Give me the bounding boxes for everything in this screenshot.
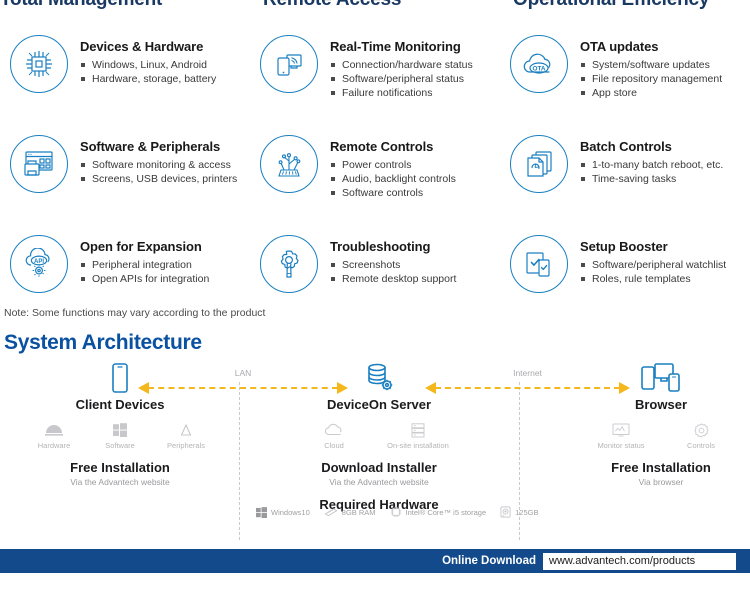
- install-title: Download Installer: [279, 460, 479, 475]
- feature-setup-booster: Setup Booster Software/peripheral watchl…: [500, 230, 750, 330]
- feature-text: Devices & Hardware Windows, Linux, Andro…: [80, 33, 216, 86]
- column-header-3: Operational Efficiency: [500, 0, 750, 11]
- feature-title: Software & Peripherals: [80, 139, 237, 154]
- feature-text: Open for Expansion Peripheral integratio…: [80, 233, 209, 286]
- storage-icon: [500, 506, 511, 518]
- api-gear-cloud-icon: API: [10, 235, 68, 293]
- node-subicons: Hardware Software: [20, 422, 220, 450]
- feature-text: Real-Time Monitoring Connection/hardware…: [330, 33, 473, 100]
- mobile-device-icon: [20, 360, 220, 394]
- feature-ota-updates: OTA OTA updates System/software updates …: [500, 30, 750, 130]
- batch-controls-icon: [510, 135, 568, 193]
- node-title: Client Devices: [20, 397, 220, 412]
- troubleshooting-gear-wrench-icon: [260, 235, 318, 293]
- feature-text: Setup Booster Software/peripheral watchl…: [580, 233, 726, 286]
- ota-cloud-icon: OTA: [510, 35, 568, 93]
- install-subtitle: Via browser: [561, 477, 750, 487]
- feature-bullet: 1-to-many batch reboot, etc.: [580, 158, 723, 172]
- online-download-url[interactable]: www.advantech.com/products: [543, 553, 736, 570]
- ram-icon: [324, 507, 338, 517]
- peripherals-icon: [153, 422, 219, 438]
- feature-bullet: Audio, backlight controls: [330, 172, 456, 186]
- subicon-peripherals: Peripherals: [153, 422, 219, 450]
- feature-bullet: Software monitoring & access: [80, 158, 237, 172]
- required-hardware-row: Windows10 8GB RAM Intel®: [256, 506, 552, 518]
- feature-title: Open for Expansion: [80, 239, 209, 254]
- feature-bullet: Windows, Linux, Android: [80, 58, 216, 72]
- feature-bullet: Peripheral integration: [80, 258, 209, 272]
- feature-title: OTA updates: [580, 39, 722, 54]
- column-title-operational-efficiency: Operational Efficiency: [513, 0, 750, 11]
- subicon-monitor-status: Monitor status: [581, 422, 661, 450]
- feature-bullet: System/software updates: [580, 58, 722, 72]
- product-note: Note: Some functions may vary according …: [4, 307, 265, 319]
- feature-text: Remote Controls Power controls Audio, ba…: [330, 133, 456, 200]
- chip-icon: [10, 35, 68, 93]
- subicon-cloud: Cloud: [295, 422, 373, 450]
- browser-devices-icon: [561, 360, 750, 394]
- feature-title: Batch Controls: [580, 139, 723, 154]
- feature-batch-controls: Batch Controls 1-to-many batch reboot, e…: [500, 130, 750, 230]
- cpu-icon: [390, 506, 402, 518]
- node-subicons: Cloud On-site installation: [279, 422, 479, 450]
- subicon-label: Software: [87, 441, 153, 450]
- feature-troubleshooting: Troubleshooting Screenshots Remote deskt…: [250, 230, 500, 330]
- feature-bullet: Software controls: [330, 186, 456, 200]
- feature-title: Devices & Hardware: [80, 39, 216, 54]
- install-subtitle: Via the Advantech website: [20, 477, 220, 487]
- subicon-onsite: On-site installation: [373, 422, 463, 450]
- node-title: Browser: [561, 397, 750, 412]
- onsite-server-icon: [373, 422, 463, 438]
- feature-bullet: Power controls: [330, 158, 456, 172]
- realtime-monitoring-icon: [260, 35, 318, 93]
- cloud-icon: [295, 422, 373, 438]
- install-subtitle: Via the Advantech website: [279, 477, 479, 487]
- subicon-label: Monitor status: [581, 441, 661, 450]
- requirement-cpu: Intel® Core™ i5 storage: [390, 506, 487, 518]
- install-title: Free Installation: [561, 460, 750, 475]
- setup-booster-icon: [510, 235, 568, 293]
- feature-text: Software & Peripherals Software monitori…: [80, 133, 237, 186]
- node-browser: Browser Monitor status: [561, 360, 750, 487]
- install-title: Free Installation: [20, 460, 220, 475]
- feature-grid: Devices & Hardware Windows, Linux, Andro…: [0, 30, 750, 330]
- feature-bullet: Hardware, storage, battery: [80, 72, 216, 86]
- column-headers: Total Management Remote Access Operation…: [0, 0, 750, 11]
- subicon-label: Hardware: [21, 441, 87, 450]
- requirement-storage: 125GB: [500, 506, 538, 518]
- subicon-hardware: Hardware: [21, 422, 87, 450]
- feature-remote-controls: Remote Controls Power controls Audio, ba…: [250, 130, 500, 230]
- requirement-label: 8GB RAM: [342, 508, 376, 517]
- node-deviceon-server: DeviceOn Server Cloud: [279, 360, 479, 512]
- subicon-software: Software: [87, 422, 153, 450]
- column-header-2: Remote Access: [250, 0, 500, 11]
- feature-text: Troubleshooting Screenshots Remote deskt…: [330, 233, 456, 286]
- software-peripherals-icon: [10, 135, 68, 193]
- feature-real-time-monitoring: Real-Time Monitoring Connection/hardware…: [250, 30, 500, 130]
- feature-bullet: Screens, USB devices, printers: [80, 172, 237, 186]
- svg-text:OTA: OTA: [532, 66, 545, 73]
- subicon-label: Cloud: [295, 441, 373, 450]
- system-architecture-title: System Architecture: [4, 331, 202, 355]
- subicon-label: On-site installation: [373, 441, 463, 450]
- feature-bullet: File repository management: [580, 72, 722, 86]
- feature-bullet: Screenshots: [330, 258, 456, 272]
- footer-bar: Online Download www.advantech.com/produc…: [0, 549, 750, 573]
- subicon-label: Controls: [661, 441, 741, 450]
- feature-bullet: App store: [580, 86, 722, 100]
- devicon-infographic-page: Total Management Remote Access Operation…: [0, 0, 750, 591]
- feature-bullet: Software/peripheral status: [330, 72, 473, 86]
- svg-text:API: API: [34, 259, 44, 265]
- feature-bullet: Time-saving tasks: [580, 172, 723, 186]
- feature-bullet: Software/peripheral watchlist: [580, 258, 726, 272]
- feature-bullet: Connection/hardware status: [330, 58, 473, 72]
- requirement-label: 125GB: [515, 508, 538, 517]
- online-download-label: Online Download: [442, 555, 536, 567]
- requirement-os: Windows10: [256, 507, 310, 518]
- feature-text: OTA updates System/software updates File…: [580, 33, 722, 100]
- windows-icon: [256, 507, 267, 518]
- feature-devices-hardware: Devices & Hardware Windows, Linux, Andro…: [0, 30, 250, 130]
- remote-controls-icon: [260, 135, 318, 193]
- monitor-status-icon: [581, 422, 661, 438]
- feature-software-peripherals: Software & Peripherals Software monitori…: [0, 130, 250, 230]
- column-title-remote-access: Remote Access: [263, 0, 500, 11]
- controls-icon: [661, 422, 741, 438]
- feature-title: Real-Time Monitoring: [330, 39, 473, 54]
- feature-title: Remote Controls: [330, 139, 456, 154]
- requirement-label: Windows10: [271, 508, 310, 517]
- subicon-controls: Controls: [661, 422, 741, 450]
- requirement-ram: 8GB RAM: [324, 507, 376, 517]
- database-gear-icon: [279, 360, 479, 394]
- feature-bullet: Open APIs for integration: [80, 272, 209, 286]
- subicon-label: Peripherals: [153, 441, 219, 450]
- node-title: DeviceOn Server: [279, 397, 479, 412]
- feature-bullet: Remote desktop support: [330, 272, 456, 286]
- column-header-1: Total Management: [0, 0, 250, 11]
- hardware-icon: [21, 422, 87, 438]
- node-subicons: Monitor status Controls: [561, 422, 750, 450]
- feature-text: Batch Controls 1-to-many batch reboot, e…: [580, 133, 723, 186]
- feature-title: Troubleshooting: [330, 239, 456, 254]
- online-download: Online Download www.advantech.com/produc…: [442, 549, 736, 573]
- column-title-total-management: Total Management: [0, 0, 250, 11]
- requirement-label: Intel® Core™ i5 storage: [406, 508, 487, 517]
- feature-bullet: Roles, rule templates: [580, 272, 726, 286]
- feature-bullet: Failure notifications: [330, 86, 473, 100]
- node-client-devices: Client Devices Hardware: [20, 360, 220, 487]
- feature-title: Setup Booster: [580, 239, 726, 254]
- system-architecture-diagram: LAN Internet Client Devices: [0, 360, 750, 540]
- divider-left: [239, 382, 240, 540]
- windows-icon: [87, 422, 153, 438]
